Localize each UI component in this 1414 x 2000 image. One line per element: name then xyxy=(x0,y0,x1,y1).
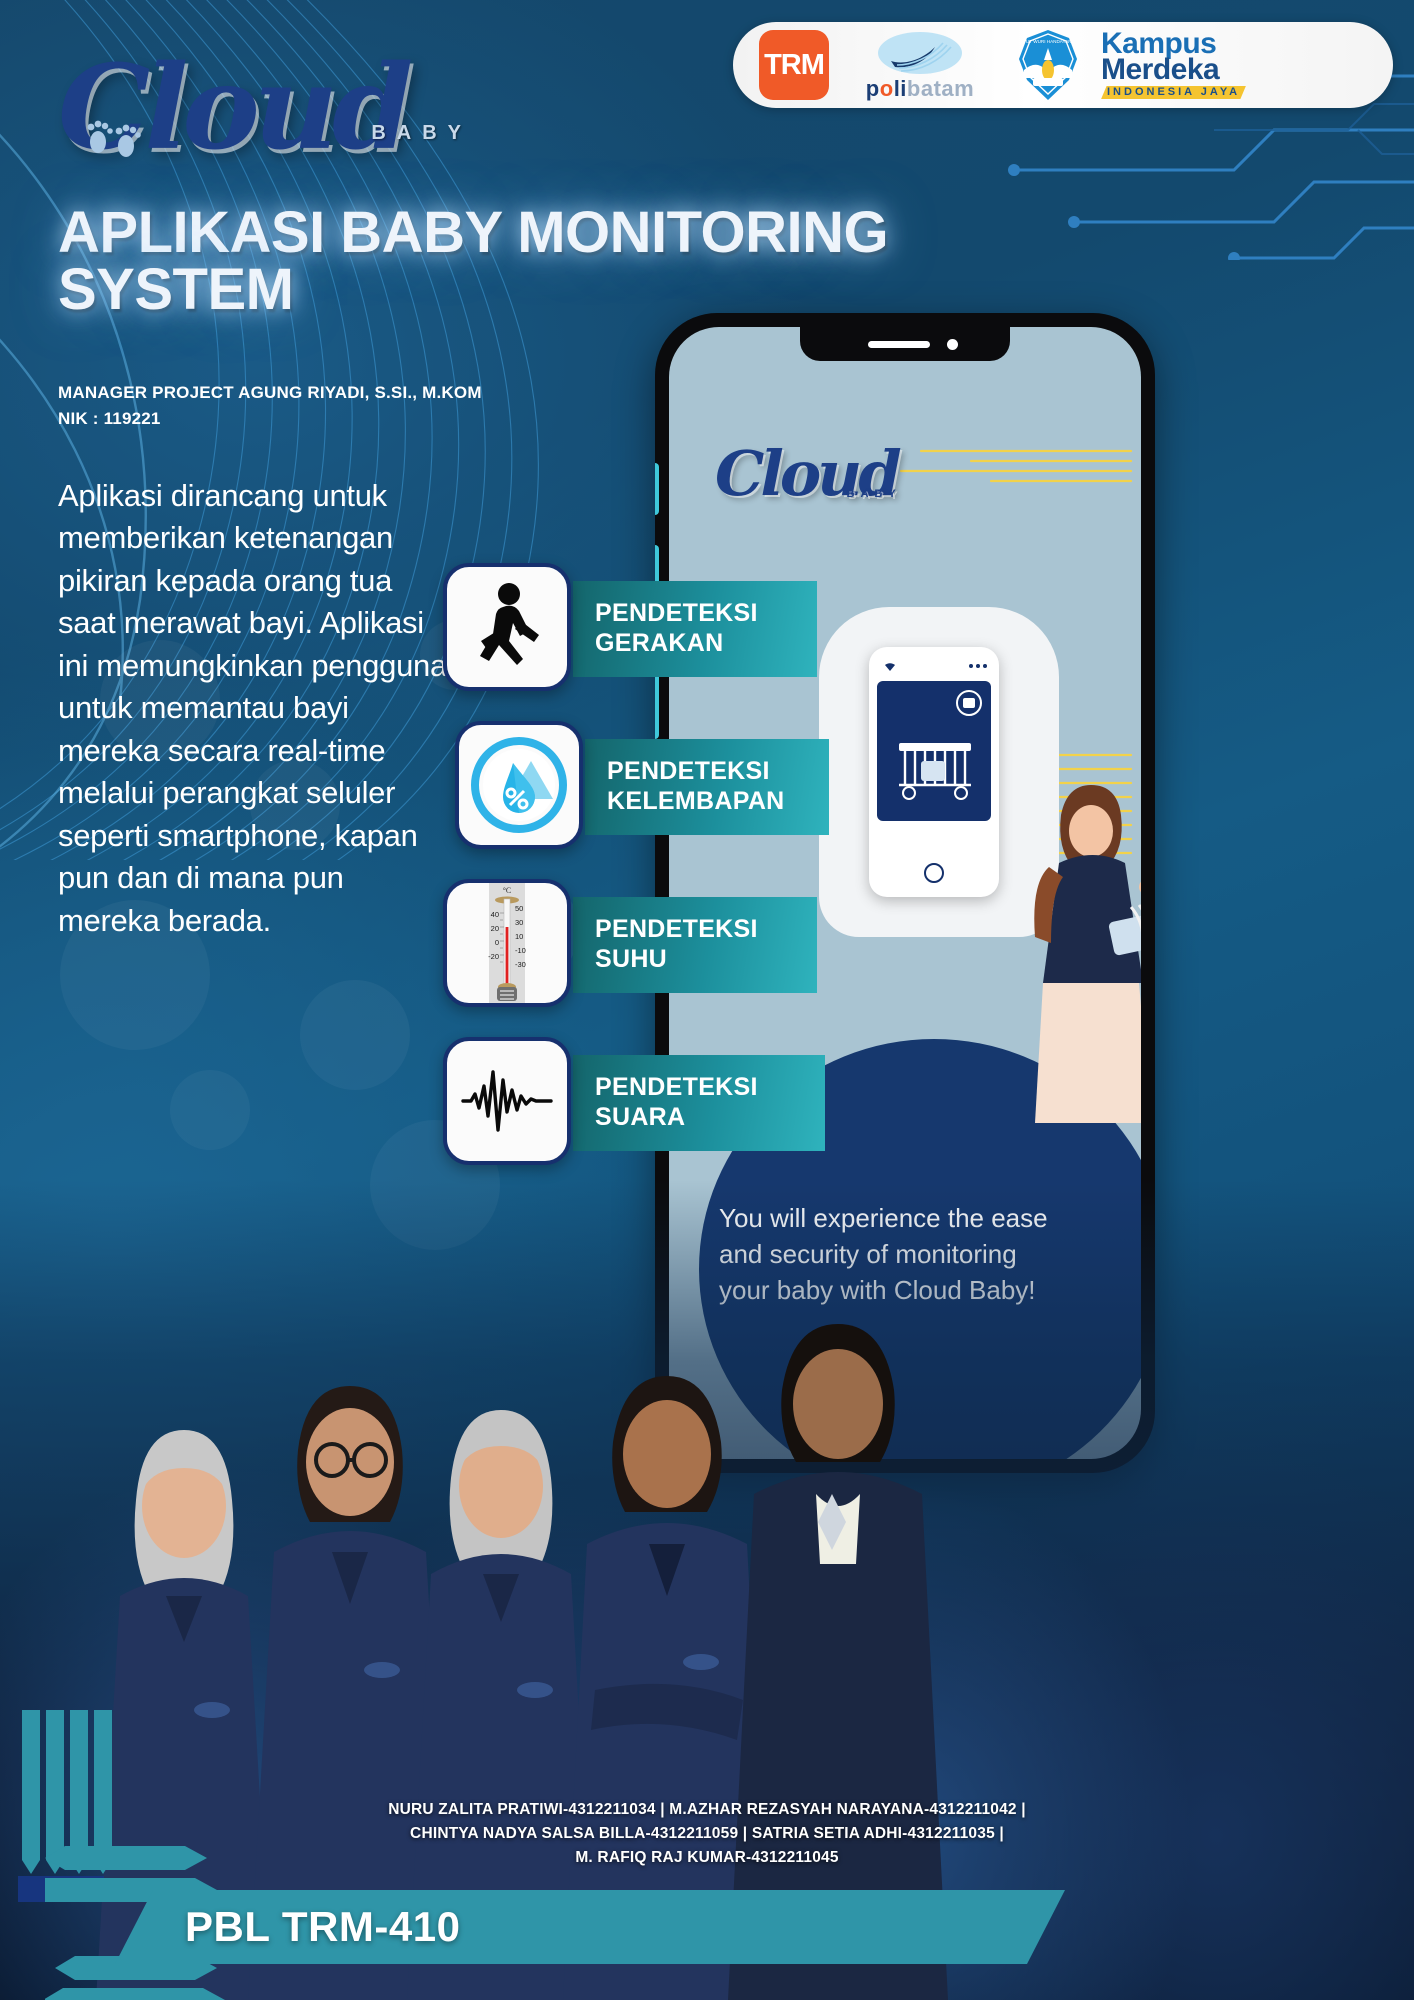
bokeh-dot xyxy=(300,980,410,1090)
baby-footprints-icon xyxy=(84,118,144,169)
project-manager-nik: NIK : 119221 xyxy=(58,406,482,432)
feature-item-humidity[interactable]: PENDETEKSI KELEMBAPAN xyxy=(443,721,843,871)
feature-label-sound: PENDETEKSI SUARA xyxy=(573,1055,825,1151)
project-manager-info: MANAGER PROJECT AGUNG RIYADI, S.SI., M.K… xyxy=(58,380,482,431)
brand-wordmark-sub: BABY xyxy=(371,122,472,145)
inner-phone-home-button xyxy=(924,863,944,883)
footer-banner: PBL TRM-410 xyxy=(55,1890,1085,1964)
polibatam-logo-label: polibatam xyxy=(866,78,974,100)
credits-line-2: CHINTYA NADYA SALSA BILLA-4312211059 | S… xyxy=(120,1822,1294,1846)
svg-text:-30: -30 xyxy=(515,960,526,969)
poster-canvas: TRM polibatam xyxy=(0,0,1414,2000)
svg-text:-10: -10 xyxy=(515,946,526,955)
app-logo-sub: BABY xyxy=(847,488,902,500)
inner-phone-screen xyxy=(877,681,991,821)
app-logo-in-phone: Cloud BABY xyxy=(715,437,898,510)
partner-logo-bar: TRM polibatam xyxy=(733,22,1393,108)
kampus-merdeka-ribbon: INDONESIA JAYA xyxy=(1101,86,1246,100)
page-title: APLIKASI BABY MONITORING SYSTEM xyxy=(58,205,958,319)
parent-illustration xyxy=(999,767,1141,1147)
feature-label-motion: PENDETEKSI GERAKAN xyxy=(573,581,817,677)
polibatam-mark-icon xyxy=(877,31,963,75)
trm-logo-label: TRM xyxy=(764,49,824,82)
credits-line-3: M. RAFIQ RAJ KUMAR-4312211045 xyxy=(120,1846,1294,1870)
svg-text:-20: -20 xyxy=(488,952,499,961)
yellow-speed-lines-top xyxy=(881,445,1141,485)
feature-list: PENDETEKSI GERAKAN PENDETEKSI KELEM xyxy=(443,563,843,1195)
phone-speaker xyxy=(868,341,930,348)
sound-wave-icon xyxy=(443,1037,571,1165)
phone-camera-icon xyxy=(947,339,958,350)
svg-text:°C: °C xyxy=(503,886,512,895)
inner-phone-illustration xyxy=(869,647,999,897)
svg-text:20: 20 xyxy=(491,924,499,933)
polibatam-logo: polibatam xyxy=(845,31,995,100)
svg-text:30: 30 xyxy=(515,918,523,927)
feature-item-temperature[interactable]: °C 40 20 0 -20 50 30 10 -10 -30 xyxy=(443,879,843,1029)
feature-item-sound[interactable]: PENDETEKSI SUARA xyxy=(443,1037,843,1187)
kampus-merdeka-logo: Kampus Merdeka INDONESIA JAYA xyxy=(1101,31,1246,99)
phone-side-button xyxy=(655,463,659,515)
feature-label-temperature: PENDETEKSI SUHU xyxy=(573,897,817,993)
bokeh-dot xyxy=(170,1070,250,1150)
walking-person-icon xyxy=(443,563,571,691)
phone-notch xyxy=(800,327,1010,361)
kemdikbud-logo: TUT WURI HANDAYANI xyxy=(1011,28,1085,102)
feature-item-motion[interactable]: PENDETEKSI GERAKAN xyxy=(443,563,843,713)
svg-text:50: 50 xyxy=(515,904,523,913)
humidity-droplet-icon xyxy=(455,721,583,849)
footer-banner-label: PBL TRM-410 xyxy=(185,1903,460,1951)
trm-logo: TRM xyxy=(759,30,829,100)
project-manager-name: MANAGER PROJECT AGUNG RIYADI, S.SI., M.K… xyxy=(58,380,482,406)
kampus-merdeka-line2: Merdeka xyxy=(1101,57,1246,83)
thermometer-icon: °C 40 20 0 -20 50 30 10 -10 -30 xyxy=(443,879,571,1007)
svg-text:0: 0 xyxy=(495,938,499,947)
description-paragraph: Aplikasi dirancang untuk memberikan kete… xyxy=(58,475,448,942)
svg-text:40: 40 xyxy=(491,910,499,919)
brand-wordmark: Cloud BABY xyxy=(58,50,478,190)
credits-line-1: NURU ZALITA PRATIWI-4312211034 | M.AZHAR… xyxy=(120,1798,1294,1822)
svg-text:TUT WURI HANDAYANI: TUT WURI HANDAYANI xyxy=(1023,39,1073,44)
feature-label-humidity: PENDETEKSI KELEMBAPAN xyxy=(585,739,829,835)
svg-text:10: 10 xyxy=(515,932,523,941)
